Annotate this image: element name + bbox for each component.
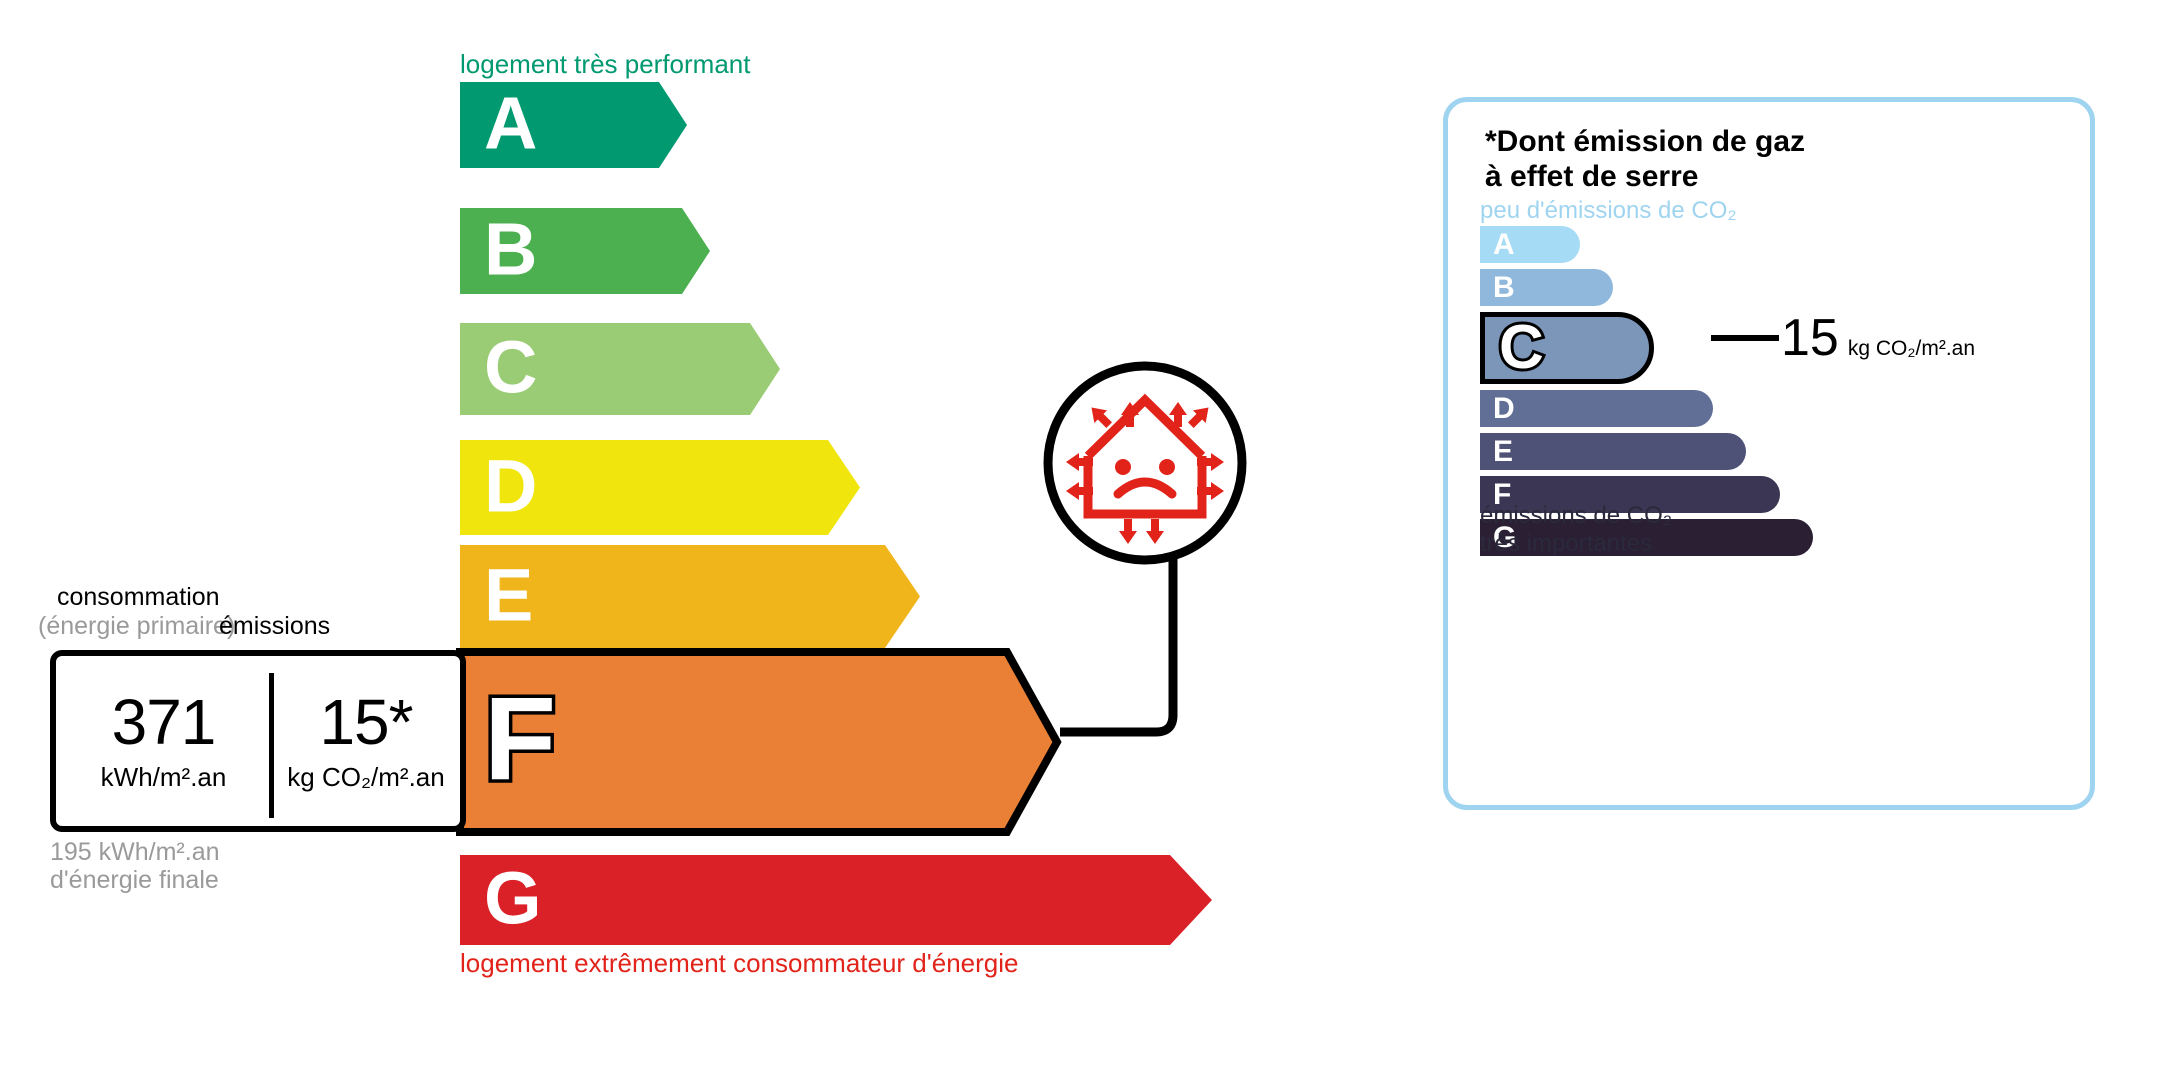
consumption-value-column: 371 kWh/m².an: [56, 656, 271, 826]
consumption-subheader: (énergie primaire): [38, 612, 235, 641]
co2-band-c-letter: C: [1499, 317, 1544, 379]
energy-band-g-letter: G: [484, 862, 542, 936]
co2-emissions-panel: *Dont émission de gaz à effet de serre p…: [1443, 97, 2095, 810]
energy-band-b[interactable]: B: [460, 208, 720, 294]
energy-band-c[interactable]: C: [460, 323, 790, 415]
co2-bottom-caption-line-1: émissions de CO₂: [1480, 502, 1672, 530]
sad-house-heat-loss-icon: [1040, 358, 1250, 568]
dpe-energy-label: logement très performant A B C: [0, 0, 2169, 1079]
co2-bottom-caption: émissions de CO₂ très importantes: [1480, 502, 1672, 557]
energy-band-f-letter: F: [484, 681, 556, 799]
energy-band-g[interactable]: G: [460, 855, 1230, 945]
scale-bottom-caption: logement extrêmement consommateur d'éner…: [460, 948, 1018, 979]
emissions-value: 15*: [319, 690, 412, 754]
emissions-unit: kg CO₂/m².an: [287, 762, 444, 793]
emissions-header: émissions: [219, 612, 330, 641]
scale-top-caption: logement très performant: [460, 49, 750, 80]
energy-band-a-letter: A: [484, 87, 537, 161]
co2-top-caption: peu d'émissions de CO₂: [1480, 197, 1737, 225]
energy-band-a[interactable]: A: [460, 82, 700, 168]
co2-band-c-active[interactable]: C: [1480, 312, 1654, 384]
co2-band-b-letter: B: [1493, 273, 1515, 303]
energy-band-b-letter: B: [484, 213, 537, 287]
co2-callout-leader-line: [1711, 335, 1779, 341]
co2-band-a[interactable]: A: [1480, 226, 1580, 263]
co2-band-a-letter: A: [1493, 230, 1515, 260]
co2-band-b[interactable]: B: [1480, 269, 1613, 306]
emissions-value-column: 15* kg CO₂/m².an: [272, 656, 460, 826]
consumption-value: 371: [112, 690, 216, 754]
energy-band-d[interactable]: D: [460, 440, 870, 535]
energy-band-d-letter: D: [484, 449, 537, 523]
co2-panel-title-line-1: *Dont émission de gaz: [1485, 124, 1805, 159]
co2-callout-value: 15: [1781, 312, 1839, 364]
co2-panel-title-line-2: à effet de serre: [1485, 159, 1805, 194]
co2-panel-title: *Dont émission de gaz à effet de serre: [1485, 124, 1805, 195]
consumption-unit: kWh/m².an: [101, 762, 227, 793]
final-energy-note: 195 kWh/m².an d'énergie finale: [50, 838, 220, 894]
co2-band-d[interactable]: D: [1480, 390, 1713, 427]
value-summary-box: 371 kWh/m².an 15* kg CO₂/m².an: [50, 650, 466, 832]
final-energy-line-2: d'énergie finale: [50, 866, 220, 894]
energy-band-e[interactable]: E: [460, 545, 930, 648]
co2-band-e-letter: E: [1493, 437, 1513, 467]
co2-band-d-letter: D: [1493, 394, 1515, 424]
energy-band-f-active[interactable]: F: [456, 648, 1076, 836]
co2-bottom-caption-line-2: très importantes: [1480, 530, 1672, 558]
energy-band-e-letter: E: [484, 558, 533, 632]
final-energy-line-1: 195 kWh/m².an: [50, 838, 220, 866]
consumption-header: consommation: [57, 583, 220, 612]
energy-band-c-letter: C: [484, 331, 537, 405]
co2-callout-unit: kg CO₂/m².an: [1848, 337, 1975, 361]
co2-band-e[interactable]: E: [1480, 433, 1746, 470]
co2-value-callout: 15 kg CO₂/m².an: [1711, 312, 1975, 364]
